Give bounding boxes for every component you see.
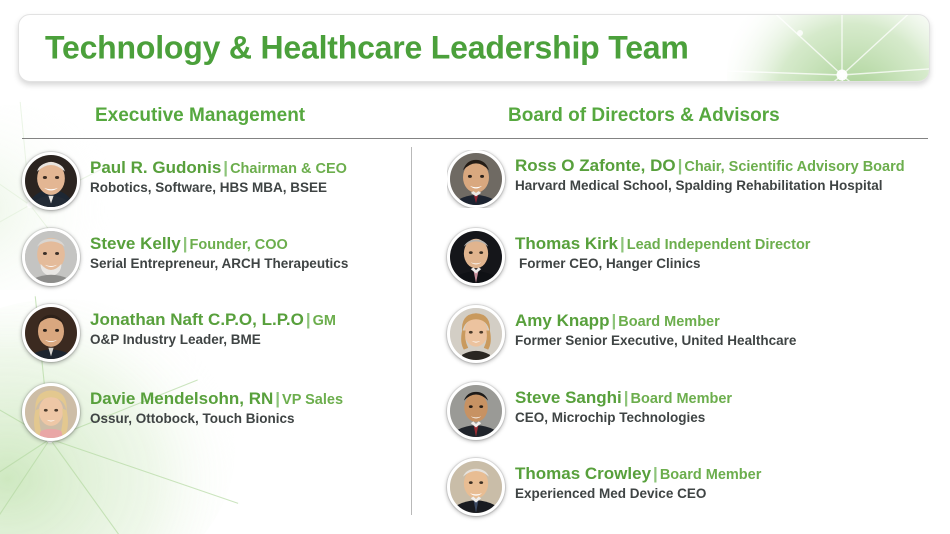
avatar (447, 305, 505, 363)
portrait-ross-zafonte-icon (450, 153, 502, 205)
avatar (447, 382, 505, 440)
person-name: Amy Knapp (515, 311, 609, 330)
person-name: Jonathan Naft C.P.O, L.P.O (90, 310, 304, 329)
person-subtitle: Harvard Medical School, Spalding Rehabil… (515, 178, 905, 194)
list-item[interactable]: Amy Knapp|Board Member Former Senior Exe… (447, 305, 950, 363)
list-item-text: Amy Knapp|Board Member Former Senior Exe… (515, 305, 796, 348)
avatar (447, 458, 505, 516)
person-name: Thomas Crowley (515, 464, 651, 483)
portrait-steve-kelly-icon (25, 231, 77, 283)
person-role: GM (313, 313, 336, 329)
person-subtitle: O&P Industry Leader, BME (90, 332, 336, 348)
person-name: Ross O Zafonte, DO (515, 156, 676, 175)
portrait-amy-knapp-icon (450, 308, 502, 360)
slide-canvas: Technology & Healthcare Leadership Team … (0, 0, 950, 534)
name-role-separator: | (304, 310, 313, 329)
avatar (447, 150, 505, 208)
avatar (22, 383, 80, 441)
name-role-separator: | (181, 234, 190, 253)
person-subtitle: Former CEO, Hanger Clinics (515, 256, 810, 272)
list-item[interactable]: Thomas Crowley|Board Member Experienced … (447, 458, 950, 516)
list-item[interactable]: Steve Kelly|Founder, COO Serial Entrepre… (22, 228, 407, 286)
person-name: Davie Mendelsohn, RN (90, 389, 273, 408)
person-role: Lead Independent Director (627, 237, 811, 253)
list-item[interactable]: Davie Mendelsohn, RN|VP Sales Ossur, Ott… (22, 383, 407, 441)
name-role-separator: | (622, 388, 631, 407)
list-item[interactable]: Thomas Kirk|Lead Independent Director Fo… (447, 228, 950, 286)
vertical-divider (411, 147, 412, 515)
person-role: VP Sales (282, 392, 343, 408)
list-item-text: Thomas Kirk|Lead Independent Director Fo… (515, 228, 810, 271)
person-role: Board Member (631, 391, 733, 407)
person-subtitle: Former Senior Executive, United Healthca… (515, 333, 796, 349)
portrait-thomas-crowley-icon (450, 461, 502, 513)
portrait-davie-mendelsohn-icon (25, 386, 77, 438)
name-role-separator: | (618, 234, 627, 253)
title-banner: Technology & Healthcare Leadership Team (18, 14, 930, 82)
person-role: Board Member (618, 314, 720, 330)
name-role-separator: | (221, 158, 230, 177)
list-item[interactable]: Paul R. Gudonis|Chairman & CEO Robotics,… (22, 152, 407, 210)
avatar (22, 152, 80, 210)
name-role-separator: | (651, 464, 660, 483)
list-item[interactable]: Steve Sanghi|Board Member CEO, Microchip… (447, 382, 950, 440)
portrait-steve-sanghi-icon (450, 385, 502, 437)
person-name: Steve Kelly (90, 234, 181, 253)
list-item-text: Davie Mendelsohn, RN|VP Sales Ossur, Ott… (90, 383, 343, 426)
person-name: Steve Sanghi (515, 388, 622, 407)
person-subtitle: Ossur, Ottobock, Touch Bionics (90, 411, 343, 427)
name-role-separator: | (609, 311, 618, 330)
person-subtitle: Serial Entrepreneur, ARCH Therapeutics (90, 256, 348, 272)
column-heading-executive-management: Executive Management (95, 105, 305, 127)
list-item-text: Ross O Zafonte, DO|Chair, Scientific Adv… (515, 150, 905, 193)
list-item-text: Thomas Crowley|Board Member Experienced … (515, 458, 761, 501)
avatar (447, 228, 505, 286)
list-item-text: Paul R. Gudonis|Chairman & CEO Robotics,… (90, 152, 347, 195)
column-heading-board-of-directors: Board of Directors & Advisors (508, 105, 780, 127)
list-item-text: Steve Kelly|Founder, COO Serial Entrepre… (90, 228, 348, 271)
avatar (22, 228, 80, 286)
list-item[interactable]: Jonathan Naft C.P.O, L.P.O|GM O&P Indust… (22, 304, 407, 362)
list-item[interactable]: Ross O Zafonte, DO|Chair, Scientific Adv… (447, 150, 950, 208)
avatar (22, 304, 80, 362)
person-role: Chairman & CEO (230, 161, 347, 177)
person-role: Founder, COO (190, 237, 288, 253)
portrait-jonathan-naft-icon (25, 307, 77, 359)
list-item-text: Steve Sanghi|Board Member CEO, Microchip… (515, 382, 732, 425)
person-name: Paul R. Gudonis (90, 158, 221, 177)
person-role: Board Member (660, 467, 762, 483)
person-subtitle: CEO, Microchip Technologies (515, 410, 732, 426)
portrait-paul-gudonis-icon (25, 155, 77, 207)
horizontal-divider (22, 138, 928, 139)
person-name: Thomas Kirk (515, 234, 618, 253)
radial-burst-icon (699, 14, 930, 82)
list-item-text: Jonathan Naft C.P.O, L.P.O|GM O&P Indust… (90, 304, 336, 347)
person-subtitle: Robotics, Software, HBS MBA, BSEE (90, 180, 347, 196)
portrait-thomas-kirk-icon (450, 231, 502, 283)
person-subtitle: Experienced Med Device CEO (515, 486, 761, 502)
name-role-separator: | (273, 389, 282, 408)
person-role: Chair, Scientific Advisory Board (684, 159, 904, 175)
page-title: Technology & Healthcare Leadership Team (45, 30, 689, 67)
